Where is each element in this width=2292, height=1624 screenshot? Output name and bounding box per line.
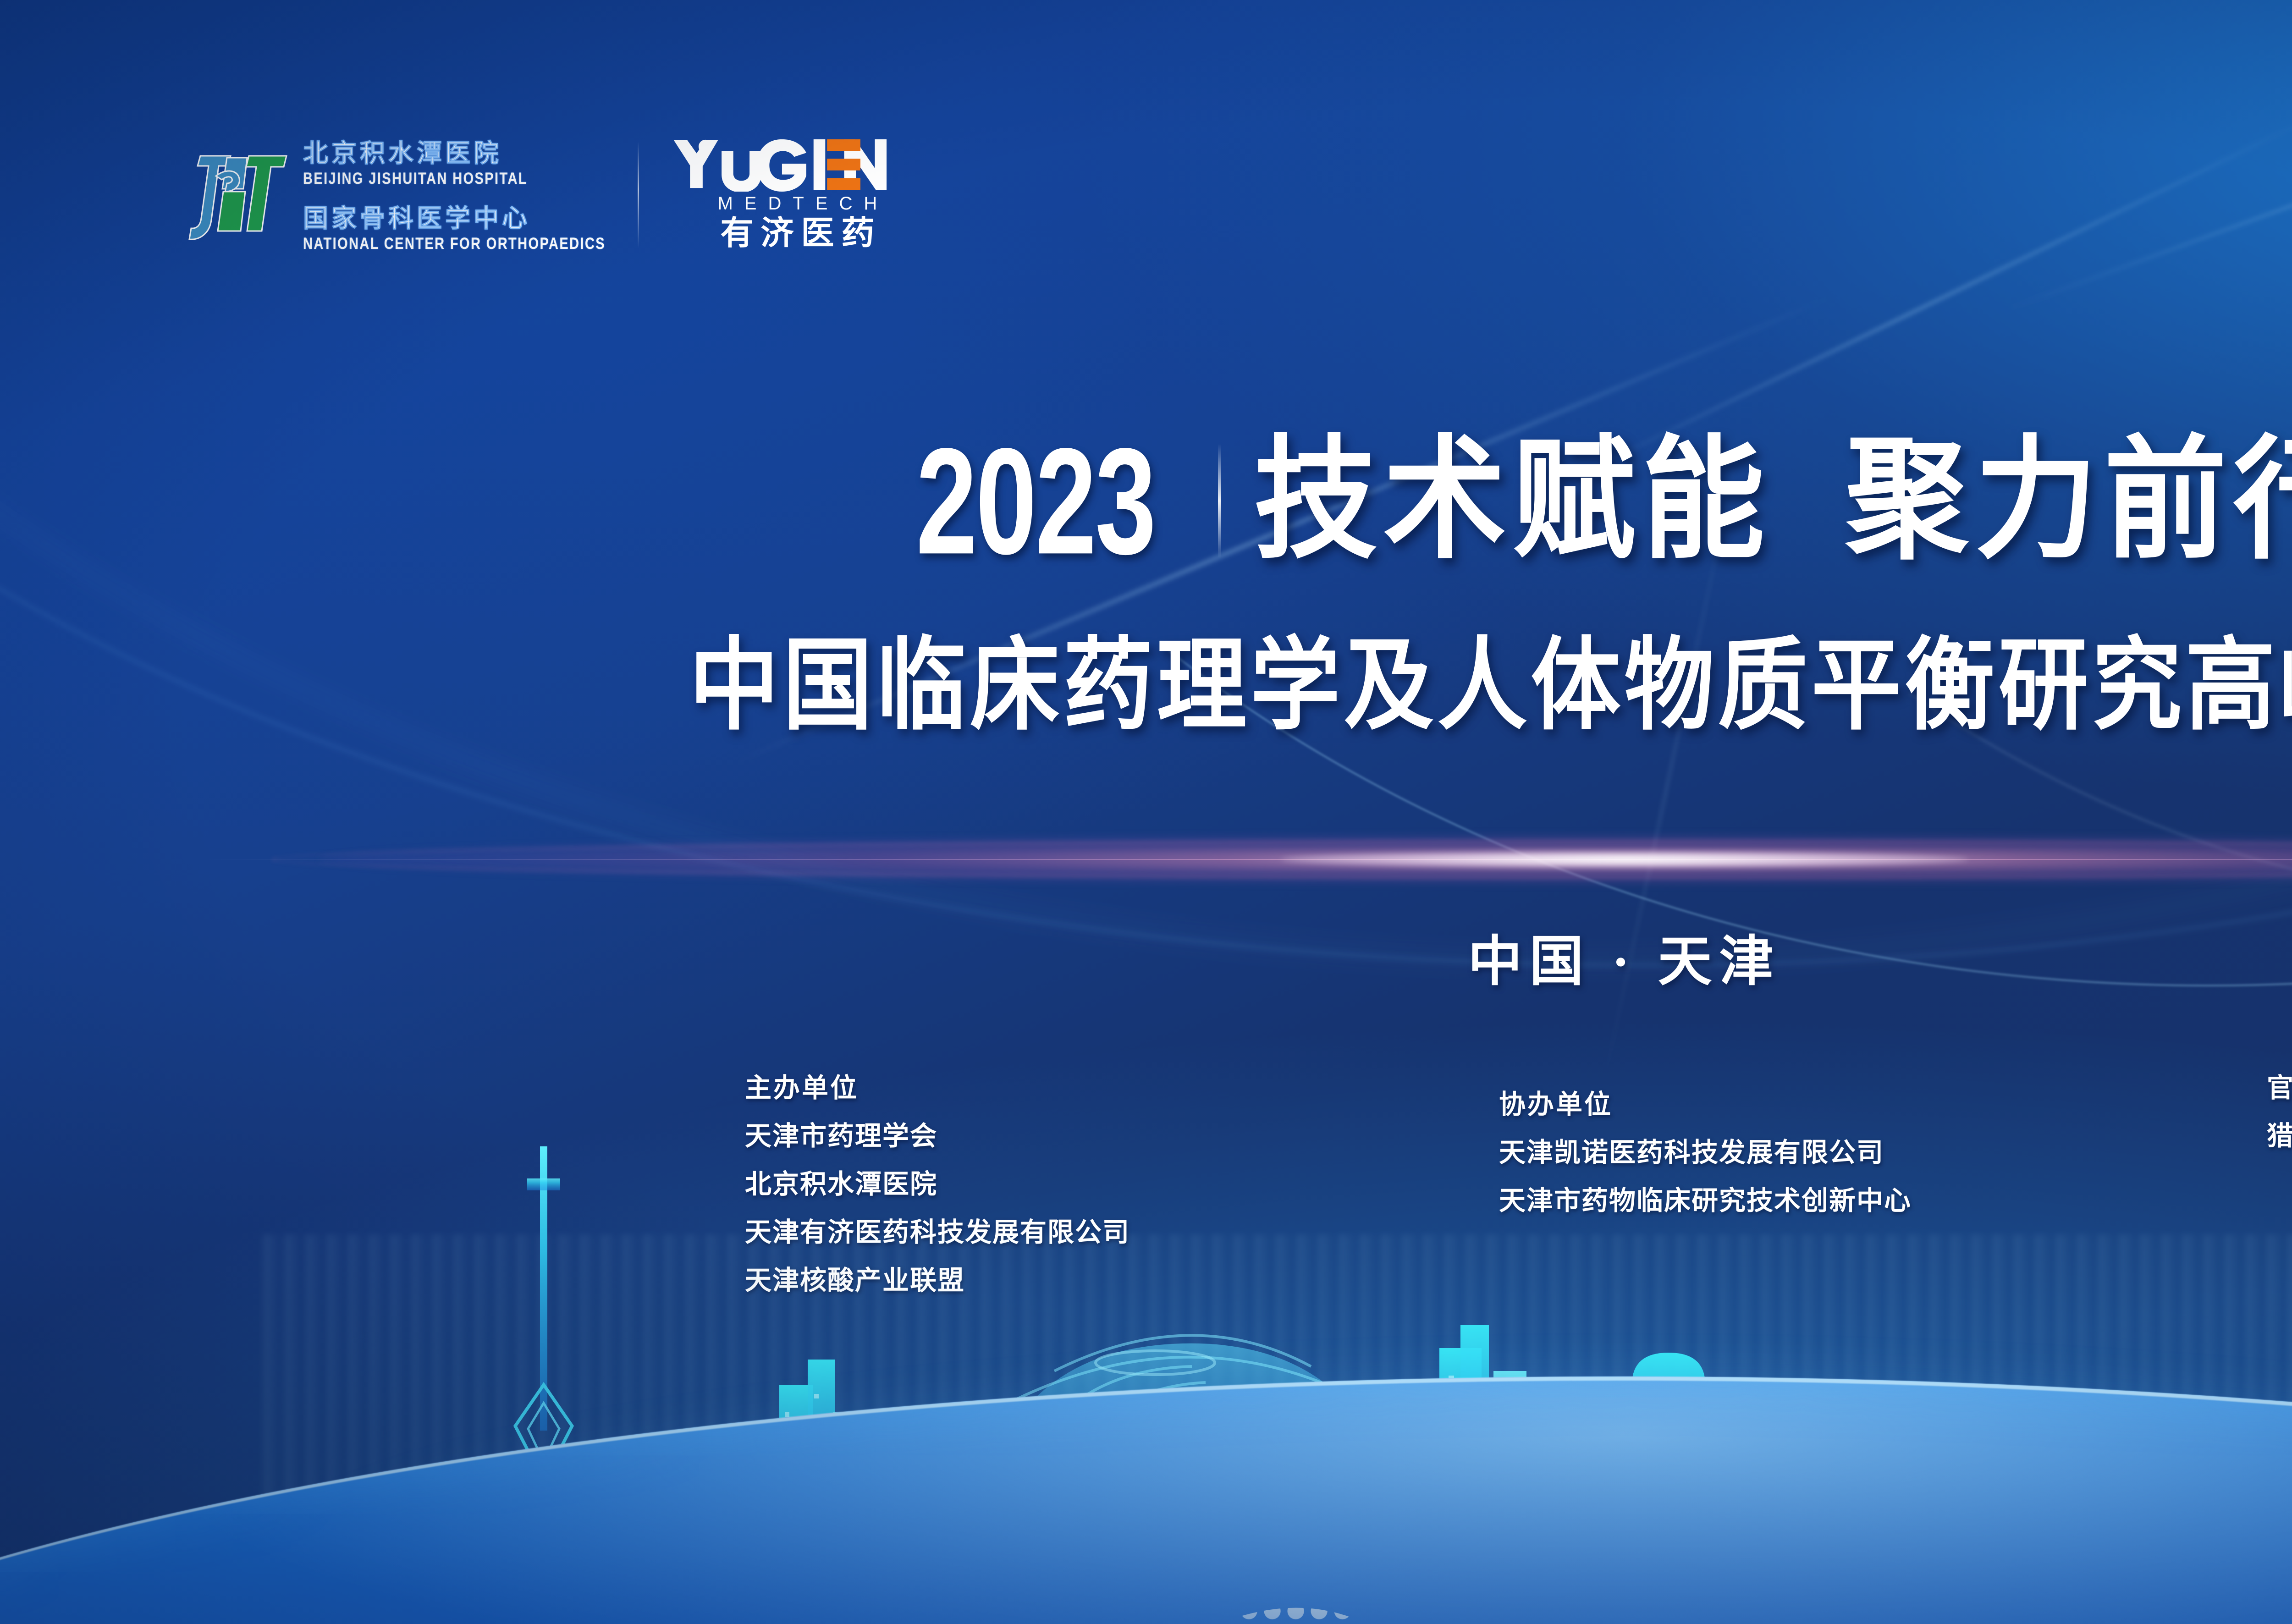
organizer-heading: 主办单位 [745,1075,1130,1101]
hospital-name-en: BEIJING JISHUITAN HOSPITAL [303,171,606,187]
center-buildings [1439,1325,1610,1541]
world-map-icon [325,1459,2292,1624]
headline-separator [1218,444,1221,558]
flare-divider [0,820,2292,898]
organizer-item: 猎药人俱乐部 [2267,1123,2292,1150]
slogan-text: 技术赋能 聚力前行 [1254,435,2292,567]
center-left-towers [779,1360,916,1541]
company-tagline: MEDTECH [706,194,888,213]
organizer-column-media: 官方合作媒体 猎药人俱乐部 [2267,1075,2292,1150]
globe-surface [0,1376,2292,1624]
organizer-item: 天津凯诺医药科技发展有限公司 [1499,1140,1912,1166]
hospital-center-cn: 国家骨科医学中心 [303,206,606,231]
flare-glow [318,834,2292,885]
logo-bar: 北京积水潭医院 BEIJING JISHUITAN HOSPITAL 国家骨科医… [181,138,924,252]
location-label: 中国 · 天津 [0,935,2292,989]
jst-monogram-icon [181,148,287,242]
year-label: 2023 [916,431,1155,571]
hospital-logo: 北京积水潭医院 BEIJING JISHUITAN HOSPITAL 国家骨科医… [181,139,606,251]
organizer-item: 天津市药物临床研究技术创新中心 [1499,1188,1912,1214]
hospital-name-cn: 北京积水潭医院 [303,141,606,166]
hospital-text-block: 北京积水潭医院 BEIJING JISHUITAN HOSPITAL 国家骨科医… [303,139,606,251]
arch-decoration [472,1472,648,1541]
forum-subtitle: 中国临床药理学及人体物质平衡研究高峰论坛 [0,636,2292,737]
organizer-column-coorganizer: 协办单位 天津凯诺医药科技发展有限公司 天津市药物临床研究技术创新中心 [1499,1091,1912,1214]
globe-band [0,1413,2292,1624]
hospital-center-en: NATIONAL CENTER FOR ORTHOPAEDICS [303,236,606,252]
organizer-heading: 协办单位 [1499,1091,1912,1118]
flare-core [1281,852,1968,867]
organizer-item: 天津市药理学会 [745,1123,1130,1150]
organizer-item: 北京积水潭医院 [745,1171,1130,1198]
yugen-orange-bars-icon [827,139,860,190]
mid-right-buildings [1714,1385,1868,1541]
company-name-cn: 有济医药 [713,215,882,252]
light-ray-3 [2001,0,2292,313]
round-tower-icon [1632,1353,1705,1541]
headline-row: 2023 技术赋能 聚力前行 [0,438,2292,564]
yugen-wordmark-icon [671,138,924,192]
left-buildings [637,1444,771,1541]
right-cluster-buildings [2145,1403,2292,1541]
world-map-dots [325,1459,2292,1624]
logo-separator [638,142,639,248]
organizer-heading: 官方合作媒体 [2267,1075,2292,1101]
light-ray-2 [1577,113,2292,477]
conference-poster: 北京积水潭医院 BEIJING JISHUITAN HOSPITAL 国家骨科医… [0,0,2292,1624]
flare-ring [272,841,2292,878]
organizer-column-host: 主办单位 天津市药理学会 北京积水潭医院 天津有济医药科技发展有限公司 天津核酸… [745,1075,1130,1294]
organizers-section: 主办单位 天津市药理学会 北京积水潭医院 天津有济医药科技发展有限公司 天津核酸… [0,1075,2292,1350]
organizer-item: 天津核酸产业联盟 [745,1267,1130,1294]
gridshell-dome-icon [972,1335,1412,1541]
globe-rim [0,1376,2292,1624]
company-logo: MEDTECH 有济医药 [671,138,924,252]
organizer-item: 天津有济医药科技发展有限公司 [745,1219,1130,1246]
flare-line [204,859,2292,860]
